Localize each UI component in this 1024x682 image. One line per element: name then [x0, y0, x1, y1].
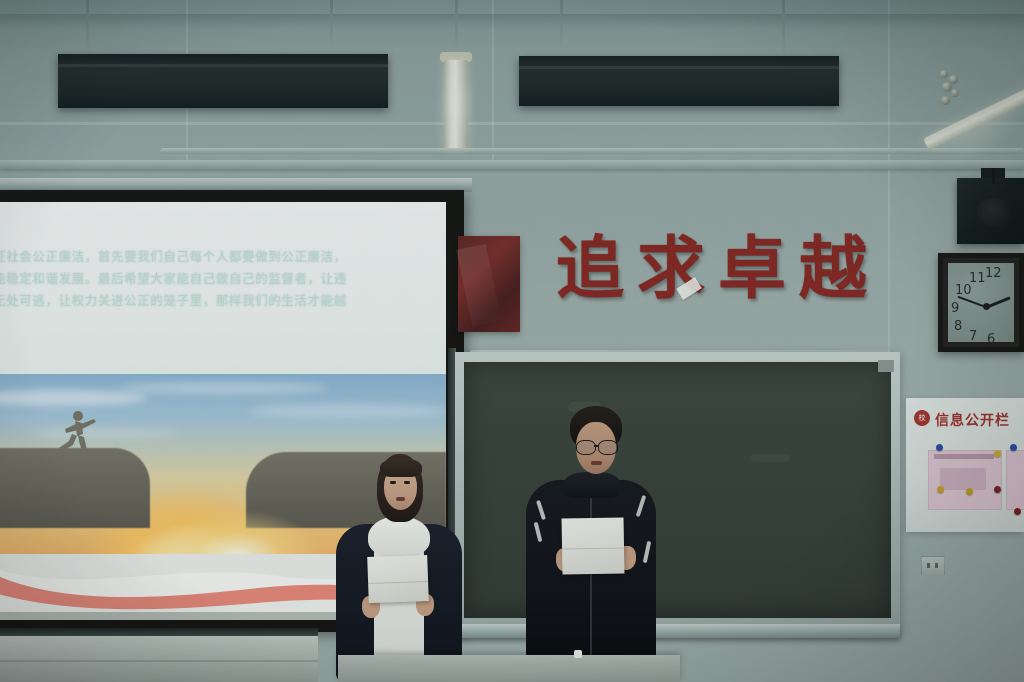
clock-number: 12	[985, 266, 1002, 281]
bulletin-board-title: 信息公开栏	[935, 410, 1010, 430]
wall-outlet[interactable]	[921, 556, 945, 576]
ceiling-light-panel-right	[519, 56, 839, 106]
ceiling-shadow-band	[0, 14, 1024, 30]
student-male-speech-paper	[562, 517, 625, 574]
slide-text-area: 保证社会公正廉洁，首先要我们自己每个人都要做到公正廉洁， 才能稳定和谐发展。最后…	[0, 202, 446, 390]
school-logo-icon: 校	[914, 410, 930, 426]
left-ledge	[0, 636, 318, 682]
pushpin	[994, 486, 1001, 493]
bulletin-sheet-text	[940, 468, 986, 490]
podium-item	[574, 650, 582, 658]
speaker-cable	[992, 168, 995, 184]
student-female-speech-paper	[367, 555, 429, 603]
clock-number: 7	[969, 329, 977, 344]
speaker-box	[957, 178, 1024, 244]
slide-text: 保证社会公正廉洁，首先要我们自己每个人都要做到公正廉洁， 才能稳定和谐发展。最后…	[0, 246, 410, 334]
red-wall-plaque	[458, 236, 520, 332]
student-male-glasses-icon	[576, 440, 596, 455]
clock-center-pin	[983, 303, 990, 310]
chalk-smudge	[750, 454, 790, 462]
podium	[338, 655, 680, 682]
sun-glow	[128, 454, 348, 564]
conduit-pipe	[160, 148, 1024, 154]
clock-number: 8	[954, 319, 962, 334]
bulletin-sheet-header	[934, 454, 994, 459]
bulletin-board[interactable]: 校 信息公开栏	[906, 398, 1024, 532]
pushpin	[994, 450, 1001, 457]
pushpin	[937, 486, 944, 493]
student-female-hood	[368, 516, 430, 558]
pushpin	[1014, 508, 1021, 515]
ceiling-light-panel-left	[58, 54, 388, 108]
tube-light-glow	[432, 52, 482, 156]
bulletin-sheet	[1006, 450, 1024, 510]
pushpin	[1010, 444, 1017, 451]
fixture-rod	[782, 0, 785, 56]
classroom-photo: 保证社会公正廉洁，首先要我们自己每个人都要做到公正廉洁， 才能稳定和谐发展。最后…	[0, 0, 1024, 682]
speaker-cone	[977, 198, 1011, 228]
student-female	[332, 448, 464, 682]
student-female-mouth	[396, 497, 405, 501]
student-female-eye	[404, 481, 410, 484]
clock-face: 12 11 10 9 8 7 6	[948, 263, 1014, 342]
runner-silhouette-icon	[53, 410, 97, 456]
student-male-collar	[564, 472, 620, 498]
student-male-mouth	[591, 461, 602, 465]
clock-number: 6	[987, 332, 995, 347]
wall-clock: 12 11 10 9 8 7 6	[938, 253, 1024, 352]
student-male-glasses-bridge	[594, 445, 599, 447]
wall-slogan: 追求卓越	[556, 236, 880, 304]
pushpin	[936, 444, 943, 451]
clock-number: 9	[951, 301, 959, 316]
wall-rail	[0, 160, 1024, 169]
pushpin	[966, 488, 973, 495]
wall-groove	[0, 122, 1024, 125]
student-male	[512, 404, 670, 682]
blackboard-corner-clip	[878, 360, 894, 372]
student-male-jacket-zipper	[590, 490, 592, 670]
fixture-rod	[330, 0, 333, 52]
tube-light-rod	[455, 0, 458, 52]
wall-decoration	[938, 68, 964, 108]
student-female-fringe	[380, 458, 422, 477]
student-female-eye	[390, 481, 396, 484]
fixture-rod	[86, 0, 89, 54]
clock-minute-hand	[957, 296, 986, 308]
student-male-glasses-icon	[598, 440, 618, 455]
fixture-rod	[560, 0, 563, 52]
